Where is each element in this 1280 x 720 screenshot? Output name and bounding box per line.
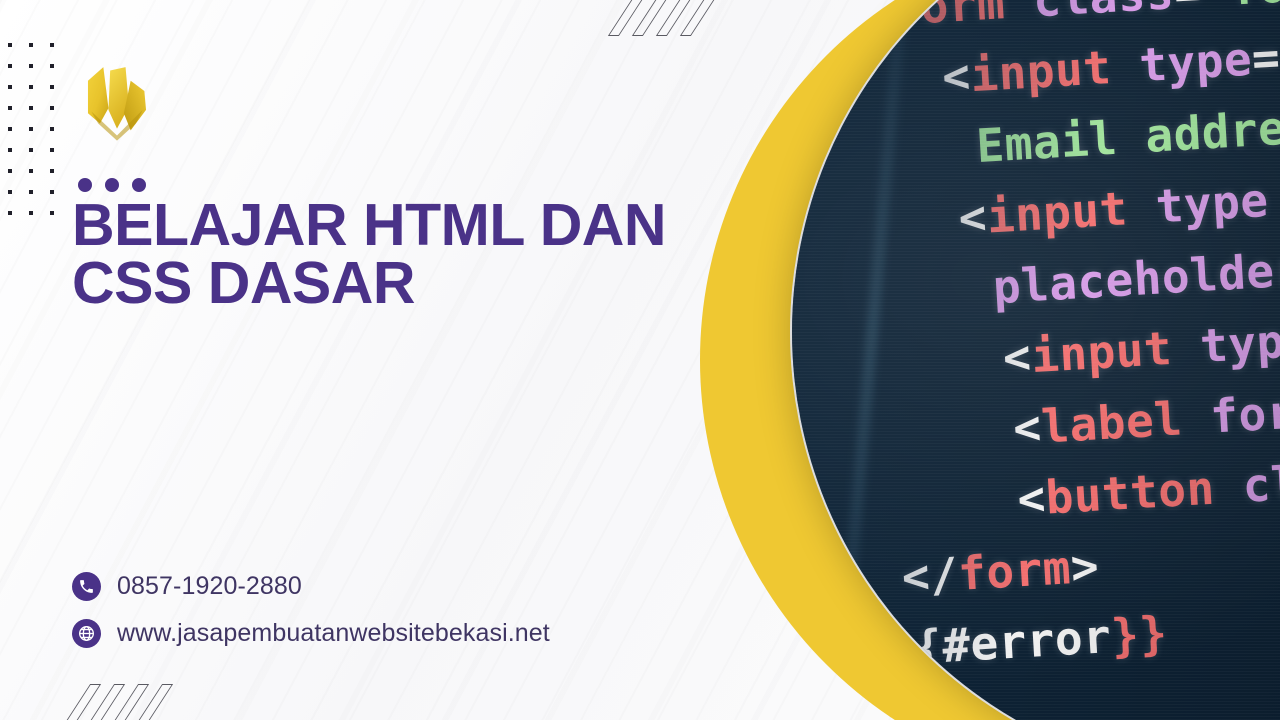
- grid-dot: [8, 211, 12, 215]
- grid-dot: [8, 43, 12, 47]
- grid-dot: [29, 127, 33, 131]
- code-token-punct: =: [1250, 30, 1280, 86]
- page-title-line-1: BELAJAR HTML DAN: [72, 196, 732, 254]
- code-token-punct: [1213, 459, 1244, 515]
- contact-info: 0857-1920-2880 www.jasapembuatanwebsiteb…: [72, 572, 550, 666]
- contact-phone[interactable]: 0857-1920-2880: [72, 572, 550, 601]
- grid-dot: [50, 148, 54, 152]
- code-token-punct: <: [1016, 471, 1047, 527]
- code-token-attr: type: [1154, 173, 1270, 234]
- code-token-attr: placeholder: [991, 242, 1280, 314]
- code-token-attr: type: [1199, 313, 1280, 374]
- code-token-punct: <: [1001, 329, 1032, 385]
- page-title: BELAJAR HTML DAN CSS DASAR: [72, 196, 732, 312]
- code-token-tag: input: [969, 40, 1113, 102]
- globe-icon: [72, 619, 101, 648]
- diagonal-strokes-top-right: [628, 0, 711, 36]
- grid-dot: [50, 106, 54, 110]
- title-dot: [78, 178, 92, 192]
- title-dots-decoration: [78, 178, 146, 192]
- code-token-punct: [1126, 180, 1157, 236]
- code-token-punct: </: [900, 547, 959, 604]
- diagonal-stroke: [680, 0, 731, 36]
- code-token-punct: >: [1069, 539, 1100, 595]
- code-token-tag: }}: [1110, 606, 1169, 663]
- dot-grid-decoration: [8, 34, 71, 223]
- grid-dot: [29, 148, 33, 152]
- code-token-str: Email addre: [975, 101, 1280, 173]
- grid-dot: [29, 169, 33, 173]
- grid-dot: [8, 127, 12, 131]
- grid-dot: [8, 169, 12, 173]
- code-token-tag: input: [1030, 321, 1174, 383]
- code-token-punct: [1181, 390, 1212, 446]
- phone-icon: [72, 572, 101, 601]
- code-token-punct: <: [957, 190, 988, 246]
- w-ribbon-logo-icon: [74, 62, 160, 144]
- grid-dot: [50, 190, 54, 194]
- grid-dot: [29, 211, 33, 215]
- code-token-attr: class: [1032, 0, 1176, 27]
- code-token-punct: [1170, 319, 1201, 375]
- code-token-attr: type: [1138, 32, 1254, 93]
- code-snippet: class="form-box<form class="fo<input typ…: [836, 0, 1280, 686]
- code-token-punct: =: [1172, 0, 1203, 19]
- code-token-tag: form: [957, 540, 1073, 601]
- title-dot: [132, 178, 146, 192]
- code-token-punct: #error: [941, 609, 1113, 673]
- code-token-punct: <: [1012, 400, 1043, 456]
- code-token-attr: cl: [1241, 456, 1280, 513]
- grid-dot: [29, 190, 33, 194]
- promo-banner: class="form-box<form class="fo<input typ…: [0, 0, 1280, 720]
- grid-dot: [29, 106, 33, 110]
- code-token-punct: <: [941, 48, 972, 104]
- grid-dot: [50, 127, 54, 131]
- title-dot: [105, 178, 119, 192]
- code-token-tag: button: [1044, 461, 1216, 525]
- grid-dot: [29, 85, 33, 89]
- page-title-line-2: CSS DASAR: [72, 254, 732, 312]
- grid-dot: [50, 169, 54, 173]
- grid-dot: [29, 64, 33, 68]
- code-token-tag: input: [985, 181, 1129, 243]
- website-url: www.jasapembuatanwebsitebekasi.net: [117, 619, 550, 648]
- code-token-str: "fo: [1200, 0, 1280, 17]
- code-token-attr: for: [1209, 385, 1280, 444]
- contact-website[interactable]: www.jasapembuatanwebsitebekasi.net: [72, 619, 550, 648]
- code-token-punct: [1110, 38, 1141, 94]
- grid-dot: [50, 85, 54, 89]
- grid-dot: [8, 85, 12, 89]
- phone-number: 0857-1920-2880: [117, 572, 302, 601]
- grid-dot: [8, 190, 12, 194]
- diagonal-strokes-bottom-left: [70, 684, 153, 720]
- code-token-punct: [1003, 0, 1034, 29]
- code-token-tag: form: [891, 0, 1007, 36]
- grid-dot: [8, 106, 12, 110]
- grid-dot: [50, 211, 54, 215]
- grid-dot: [50, 64, 54, 68]
- grid-dot: [50, 43, 54, 47]
- code-token-punct: <: [863, 0, 894, 37]
- code-token-punct: {: [913, 619, 944, 675]
- grid-dot: [8, 148, 12, 152]
- grid-dot: [29, 43, 33, 47]
- grid-dot: [8, 64, 12, 68]
- code-token-tag: label: [1040, 391, 1184, 453]
